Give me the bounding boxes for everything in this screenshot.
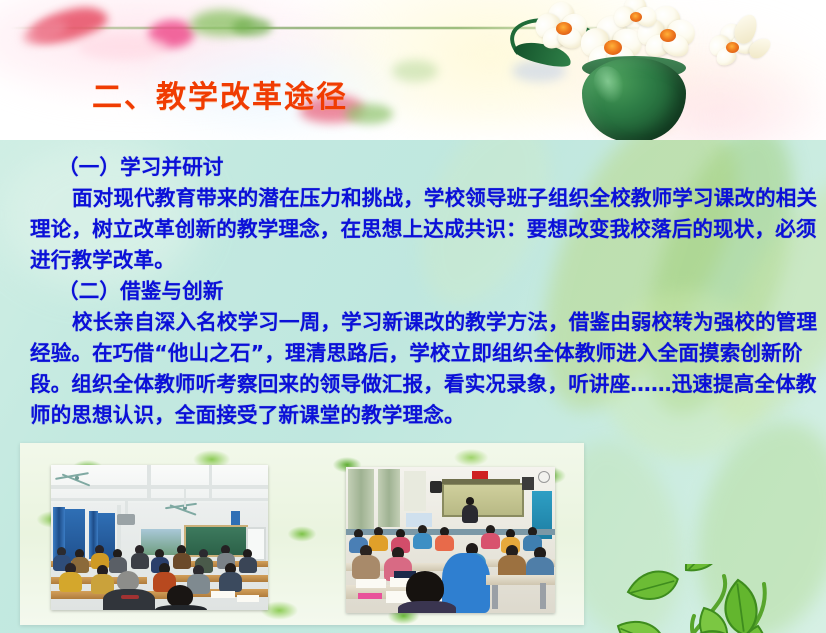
leaf-blob-green-c xyxy=(345,104,393,124)
flower-blob-blush xyxy=(78,34,168,60)
leaf-blob-green-b xyxy=(232,18,272,36)
slide-canvas: 二、教学改革途径 （一）学习并研讨 面对现代教育带来的潜在压力和挑战，学校领导班… xyxy=(0,0,826,633)
section-one-body: 面对现代教育带来的潜在压力和挑战，学校领导班子组织全校教师学习课改的相关理论，树… xyxy=(0,183,826,276)
photo-panel xyxy=(20,443,584,625)
section-two-body: 校长亲自深入名校学习一周，学习新课改的教学方法，借鉴由弱校转为强校的管理经验。在… xyxy=(0,307,826,431)
slide-body: （一）学习并研讨 面对现代教育带来的潜在压力和挑战，学校领导班子组织全校教师学习… xyxy=(0,140,826,633)
students-group-study-photo[interactable] xyxy=(346,467,555,613)
vine-horn-decoration xyxy=(612,564,826,633)
classroom-lecture-photo[interactable] xyxy=(51,465,268,610)
slide-header: 二、教学改革途径 xyxy=(0,0,826,140)
section-one-heading: （一）学习并研讨 xyxy=(0,152,826,183)
content-text-block: （一）学习并研讨 面对现代教育带来的潜在压力和挑战，学校领导班子组织全校教师学习… xyxy=(0,152,826,431)
page-title: 二、教学改革途径 xyxy=(92,83,348,113)
orchid-flower-4 xyxy=(612,0,682,56)
leaf-blob-green-d xyxy=(392,60,438,82)
vine-leaves xyxy=(614,564,824,633)
section-two-heading: （二）借鉴与创新 xyxy=(0,276,826,307)
orchid-arrangement-icon xyxy=(486,0,826,140)
